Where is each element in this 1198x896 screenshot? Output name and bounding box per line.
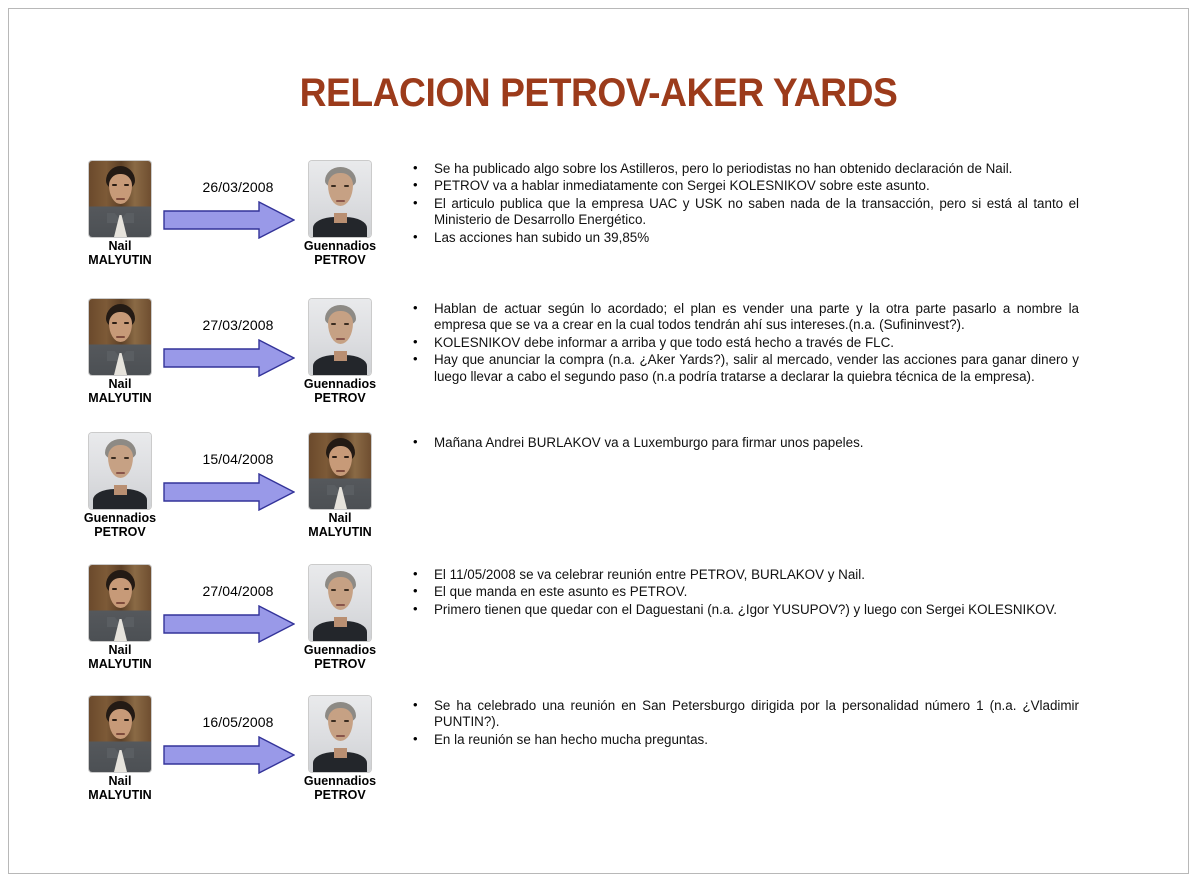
bullet-item: Se ha publicado algo sobre los Astillero… xyxy=(407,161,1079,177)
page-title: RELACION PETROV-AKER YARDS xyxy=(50,71,1146,116)
eye-right xyxy=(124,322,129,324)
person-name: GuennadiosPETROV xyxy=(303,644,377,671)
photo-malyutin xyxy=(309,433,371,509)
eye-right xyxy=(344,589,349,591)
mouth xyxy=(336,338,345,340)
person-first-name: Guennadios xyxy=(303,378,377,392)
person-name: GuennadiosPETROV xyxy=(303,378,377,405)
eye-right xyxy=(124,457,129,459)
eye-left xyxy=(112,588,117,590)
mouth xyxy=(116,198,125,200)
flow-date-label: 27/04/2008 xyxy=(163,583,313,599)
flow-arrow-group: 27/04/2008 xyxy=(163,583,313,653)
person-last-name: PETROV xyxy=(83,526,157,540)
bullet-item: Hablan de actuar según lo acordado; el p… xyxy=(407,301,1079,334)
relationship-row: NailMALYUTIN26/03/2008GuennadiosPETROVSe… xyxy=(9,161,1188,291)
person-left: NailMALYUTIN xyxy=(83,299,157,405)
person-left: GuennadiosPETROV xyxy=(83,433,157,539)
bullet-item: Se ha celebrado una reunión en San Peter… xyxy=(407,698,1079,731)
person-right: NailMALYUTIN xyxy=(303,433,377,539)
bullet-list: Mañana Andrei BURLAKOV va a Luxemburgo p… xyxy=(407,435,1079,452)
flow-date-label: 27/03/2008 xyxy=(163,317,313,333)
person-first-name: Guennadios xyxy=(303,644,377,658)
eye-left xyxy=(112,719,117,721)
photo-malyutin xyxy=(89,161,151,237)
right-arrow-icon xyxy=(163,605,295,643)
slide-frame: RELACION PETROV-AKER YARDS NailMALYUTIN2… xyxy=(8,8,1189,874)
person-right: GuennadiosPETROV xyxy=(303,565,377,671)
bullet-list: El 11/05/2008 se va celebrar reunión ent… xyxy=(407,567,1079,619)
flow-arrow-group: 16/05/2008 xyxy=(163,714,313,784)
mouth xyxy=(336,604,345,606)
eye-right xyxy=(124,588,129,590)
mouth xyxy=(336,470,345,472)
bullet-item: En la reunión se han hecho mucha pregunt… xyxy=(407,732,1079,748)
mouth xyxy=(336,200,345,202)
eye-left xyxy=(112,184,117,186)
bullet-list: Se ha publicado algo sobre los Astillero… xyxy=(407,161,1079,247)
eye-left xyxy=(331,720,336,722)
person-name: NailMALYUTIN xyxy=(83,240,157,267)
person-name: GuennadiosPETROV xyxy=(83,512,157,539)
relationship-row: NailMALYUTIN27/03/2008GuennadiosPETROVHa… xyxy=(9,299,1188,429)
person-first-name: Nail xyxy=(83,240,157,254)
neck xyxy=(334,748,347,758)
photo-malyutin xyxy=(89,299,151,375)
person-last-name: MALYUTIN xyxy=(83,658,157,672)
eye-left xyxy=(332,456,337,458)
person-name: GuennadiosPETROV xyxy=(303,775,377,802)
flow-group: GuennadiosPETROV15/04/2008NailMALYUTIN xyxy=(71,433,401,563)
person-right: GuennadiosPETROV xyxy=(303,696,377,802)
photo-petrov xyxy=(309,299,371,375)
bullet-item: El que manda en este asunto es PETROV. xyxy=(407,584,1079,600)
neck xyxy=(114,485,127,495)
flow-group: NailMALYUTIN27/04/2008GuennadiosPETROV xyxy=(71,565,401,695)
photo-malyutin xyxy=(89,696,151,772)
person-first-name: Guennadios xyxy=(83,512,157,526)
person-first-name: Nail xyxy=(83,644,157,658)
bullet-item: El 11/05/2008 se va celebrar reunión ent… xyxy=(407,567,1079,583)
mouth xyxy=(336,735,345,737)
person-last-name: MALYUTIN xyxy=(303,526,377,540)
neck xyxy=(334,351,347,361)
person-left: NailMALYUTIN xyxy=(83,696,157,802)
person-right: GuennadiosPETROV xyxy=(303,161,377,267)
eye-left xyxy=(112,322,117,324)
photo-petrov xyxy=(309,696,371,772)
eye-right xyxy=(124,719,129,721)
person-first-name: Guennadios xyxy=(303,240,377,254)
person-last-name: PETROV xyxy=(303,658,377,672)
bullet-item: Mañana Andrei BURLAKOV va a Luxemburgo p… xyxy=(407,435,1079,451)
eye-left xyxy=(331,185,336,187)
right-arrow-icon xyxy=(163,736,295,774)
person-name: NailMALYUTIN xyxy=(83,378,157,405)
right-arrow-icon xyxy=(163,201,295,239)
mouth xyxy=(116,602,125,604)
eye-left xyxy=(331,589,336,591)
flow-arrow-group: 26/03/2008 xyxy=(163,179,313,249)
flow-date-label: 26/03/2008 xyxy=(163,179,313,195)
flow-group: NailMALYUTIN26/03/2008GuennadiosPETROV xyxy=(71,161,401,291)
person-last-name: MALYUTIN xyxy=(83,392,157,406)
flow-group: NailMALYUTIN16/05/2008GuennadiosPETROV xyxy=(71,696,401,826)
eye-right xyxy=(344,323,349,325)
person-first-name: Nail xyxy=(303,512,377,526)
person-right: GuennadiosPETROV xyxy=(303,299,377,405)
person-name: GuennadiosPETROV xyxy=(303,240,377,267)
bullet-item: Las acciones han subido un 39,85% xyxy=(407,230,1079,246)
person-last-name: PETROV xyxy=(303,789,377,803)
person-name: NailMALYUTIN xyxy=(83,644,157,671)
relationship-row: GuennadiosPETROV15/04/2008NailMALYUTINMa… xyxy=(9,433,1188,563)
mouth xyxy=(116,472,125,474)
bullet-list: Se ha celebrado una reunión en San Peter… xyxy=(407,698,1079,749)
photo-petrov xyxy=(309,161,371,237)
eye-right xyxy=(344,720,349,722)
photo-malyutin xyxy=(89,565,151,641)
person-last-name: MALYUTIN xyxy=(83,254,157,268)
bullet-item: Primero tienen que quedar con el Daguest… xyxy=(407,602,1079,618)
right-arrow-icon xyxy=(163,339,295,377)
mouth xyxy=(116,336,125,338)
photo-petrov xyxy=(89,433,151,509)
person-first-name: Nail xyxy=(83,378,157,392)
photo-petrov xyxy=(309,565,371,641)
bullet-list: Hablan de actuar según lo acordado; el p… xyxy=(407,301,1079,386)
flow-arrow-group: 27/03/2008 xyxy=(163,317,313,387)
relationship-row: NailMALYUTIN27/04/2008GuennadiosPETROVEl… xyxy=(9,565,1188,695)
bullet-item: PETROV va a hablar inmediatamente con Se… xyxy=(407,178,1079,194)
neck xyxy=(334,213,347,223)
person-left: NailMALYUTIN xyxy=(83,161,157,267)
person-name: NailMALYUTIN xyxy=(83,775,157,802)
eye-right xyxy=(344,185,349,187)
eye-left xyxy=(331,323,336,325)
bullet-item: El articulo publica que la empresa UAC y… xyxy=(407,196,1079,229)
mouth xyxy=(116,733,125,735)
right-arrow-icon xyxy=(163,473,295,511)
flow-arrow-group: 15/04/2008 xyxy=(163,451,313,521)
eye-left xyxy=(111,457,116,459)
bullet-item: Hay que anunciar la compra (n.a. ¿Aker Y… xyxy=(407,352,1079,385)
person-name: NailMALYUTIN xyxy=(303,512,377,539)
person-first-name: Nail xyxy=(83,775,157,789)
person-last-name: MALYUTIN xyxy=(83,789,157,803)
person-first-name: Guennadios xyxy=(303,775,377,789)
person-last-name: PETROV xyxy=(303,254,377,268)
eye-right xyxy=(124,184,129,186)
eye-right xyxy=(344,456,349,458)
neck xyxy=(334,617,347,627)
flow-group: NailMALYUTIN27/03/2008GuennadiosPETROV xyxy=(71,299,401,429)
person-left: NailMALYUTIN xyxy=(83,565,157,671)
relationship-row: NailMALYUTIN16/05/2008GuennadiosPETROVSe… xyxy=(9,696,1188,826)
flow-date-label: 16/05/2008 xyxy=(163,714,313,730)
bullet-item: KOLESNIKOV debe informar a arriba y que … xyxy=(407,335,1079,351)
flow-date-label: 15/04/2008 xyxy=(163,451,313,467)
person-last-name: PETROV xyxy=(303,392,377,406)
